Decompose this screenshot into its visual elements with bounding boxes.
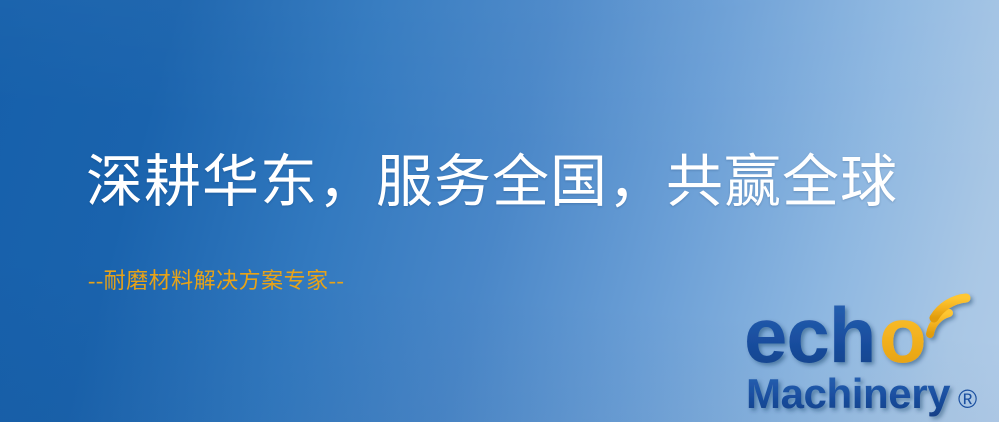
logo-wordmark-o: o [879, 291, 927, 379]
signal-wave-icon [930, 298, 966, 334]
banner-headline: 深耕华东，服务全国，共赢全球 [86, 152, 898, 214]
banner-subtitle: --耐磨材料解决方案专家-- [88, 268, 344, 294]
hero-banner: 深耕华东，服务全国，共赢全球 --耐磨材料解决方案专家-- [0, 0, 999, 422]
echo-machinery-logo: ech o Machinery ® [744, 296, 996, 418]
logo-tagline: Machinery [746, 370, 951, 417]
logo-wordmark-ech: ech [744, 291, 875, 379]
registered-trademark-icon: ® [958, 384, 977, 414]
